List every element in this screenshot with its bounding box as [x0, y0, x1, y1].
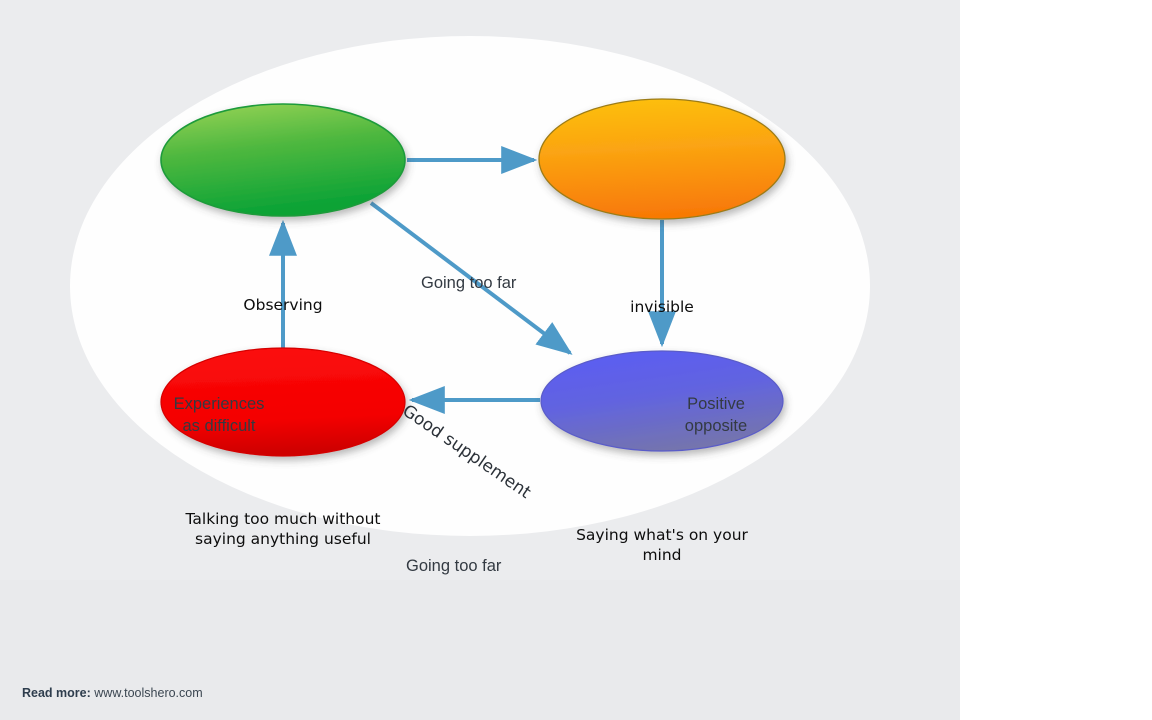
node-challenge[interactable] [541, 351, 783, 451]
core-quadrant-diagram: Observing Talking too much without sayin… [0, 74, 960, 654]
node-allergy[interactable] [539, 99, 785, 219]
toolshero-url[interactable]: www.toolshero.com [94, 686, 202, 700]
slide: Core Quadrant by Daniel Ofman [0, 0, 960, 720]
read-more-label: Read more: [22, 686, 91, 700]
node-pitfall[interactable] [161, 348, 405, 456]
node-core-quality[interactable] [161, 104, 405, 216]
footer-read-more: Read more: www.toolshero.com [22, 686, 203, 700]
